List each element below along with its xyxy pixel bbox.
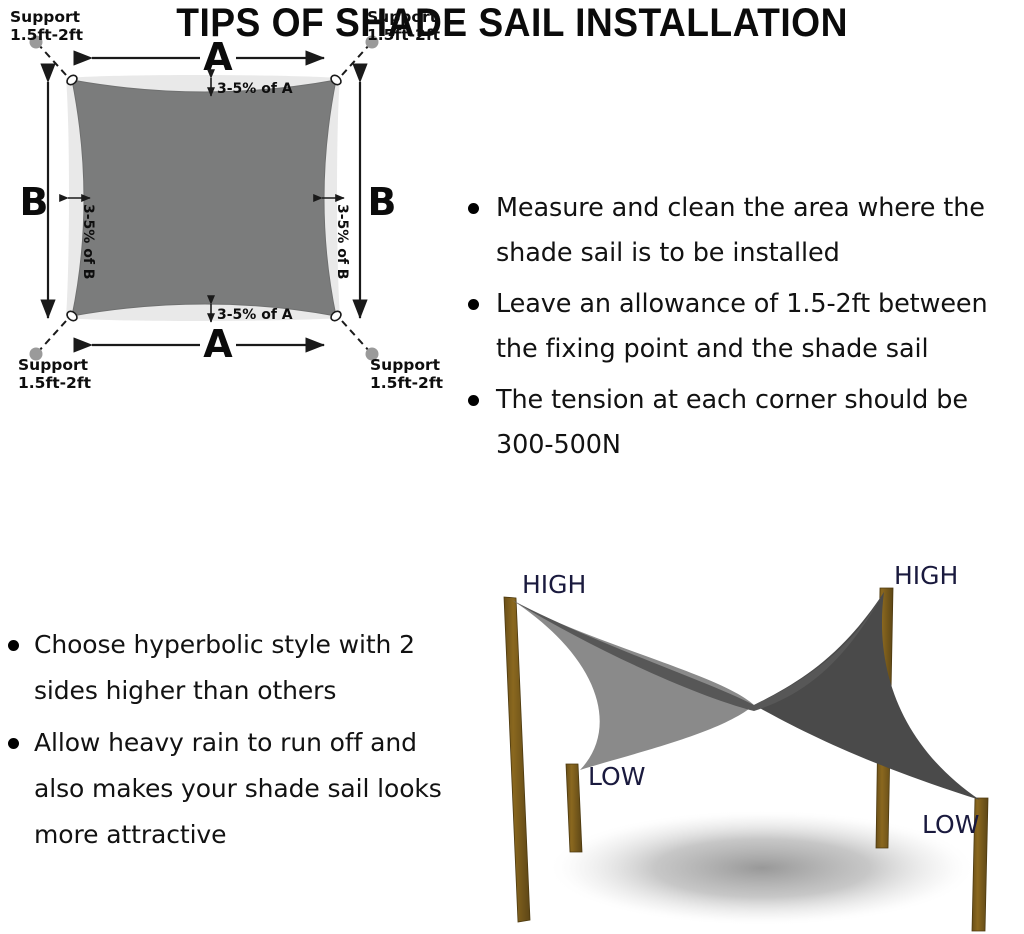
- curve-label-top: 3-5% of A: [217, 81, 293, 97]
- hyperbolic-sail-diagram: HIGH HIGH LOW LOW: [470, 548, 1024, 934]
- curve-label-left: 3-5% of B: [80, 204, 96, 279]
- label-high-left: HIGH: [522, 570, 586, 599]
- support-label-top-right-line1: Support: [367, 8, 438, 26]
- tips-top-items: Measure and clean the area where the sha…: [458, 186, 1024, 468]
- tip-text: Choose hyperbolic style with 2 sides hig…: [34, 630, 415, 705]
- support-line-top-right: [342, 44, 370, 75]
- label-low-right: LOW: [922, 810, 979, 839]
- support-label-top-right-line2: 1.5ft-2ft: [367, 26, 441, 44]
- post-low-left: [566, 764, 582, 852]
- post-high-left: [504, 597, 530, 922]
- support-line-top-left: [38, 44, 66, 75]
- tip-text: Measure and clean the area where the sha…: [496, 193, 985, 268]
- support-label-bottom-right-line1: Support: [370, 356, 441, 374]
- bullet-icon: [8, 738, 19, 749]
- bullet-icon: [468, 203, 479, 214]
- label-high-right: HIGH: [894, 561, 958, 590]
- curve-label-bottom: 3-5% of A: [217, 307, 293, 323]
- tips-list-bottom: Choose hyperbolic style with 2 sides hig…: [0, 622, 452, 864]
- sail-body-shape: [72, 80, 336, 316]
- list-item: Leave an allowance of 1.5-2ft between th…: [458, 282, 1024, 372]
- bullet-icon: [468, 395, 479, 406]
- rectangular-sail-diagram: Support 1.5ft-2ft Support 1.5ft-2ft Supp…: [0, 0, 470, 400]
- tip-text: Allow heavy rain to run off and also mak…: [34, 728, 442, 849]
- dimension-label-a-bottom: A: [203, 322, 233, 366]
- dimension-label-b-right: B: [368, 180, 397, 224]
- support-line-bottom-right: [342, 321, 370, 352]
- label-low-left: LOW: [588, 762, 645, 791]
- tip-text: The tension at each corner should be 300…: [496, 385, 968, 460]
- list-item: Choose hyperbolic style with 2 sides hig…: [0, 622, 452, 714]
- support-label-bottom-left-line1: Support: [18, 356, 89, 374]
- bullet-icon: [468, 299, 479, 310]
- list-item: The tension at each corner should be 300…: [458, 378, 1024, 468]
- support-label-top-left-line2: 1.5ft-2ft: [10, 26, 84, 44]
- list-item: Allow heavy rain to run off and also mak…: [0, 720, 452, 858]
- list-item: Measure and clean the area where the sha…: [458, 186, 1024, 276]
- sail-panel-light: [512, 600, 754, 770]
- support-label-bottom-left-line2: 1.5ft-2ft: [18, 374, 92, 392]
- dimension-label-a-top: A: [203, 35, 233, 79]
- support-label-top-left-line1: Support: [10, 8, 81, 26]
- hyperbolic-labels: HIGH HIGH LOW LOW: [522, 561, 979, 839]
- tip-text: Leave an allowance of 1.5-2ft between th…: [496, 289, 988, 364]
- ground-shadow: [547, 810, 977, 926]
- support-label-bottom-right-line2: 1.5ft-2ft: [370, 374, 444, 392]
- curve-label-right: 3-5% of B: [334, 204, 350, 279]
- tips-bottom-items: Choose hyperbolic style with 2 sides hig…: [0, 622, 452, 858]
- hyperbolic-sail-svg: HIGH HIGH LOW LOW: [470, 548, 1024, 934]
- tips-list-top: Measure and clean the area where the sha…: [458, 186, 1024, 474]
- rect-sail-svg: Support 1.5ft-2ft Support 1.5ft-2ft Supp…: [0, 0, 470, 400]
- support-line-bottom-left: [38, 321, 66, 352]
- dimension-label-b-left: B: [20, 180, 49, 224]
- bullet-icon: [8, 640, 19, 651]
